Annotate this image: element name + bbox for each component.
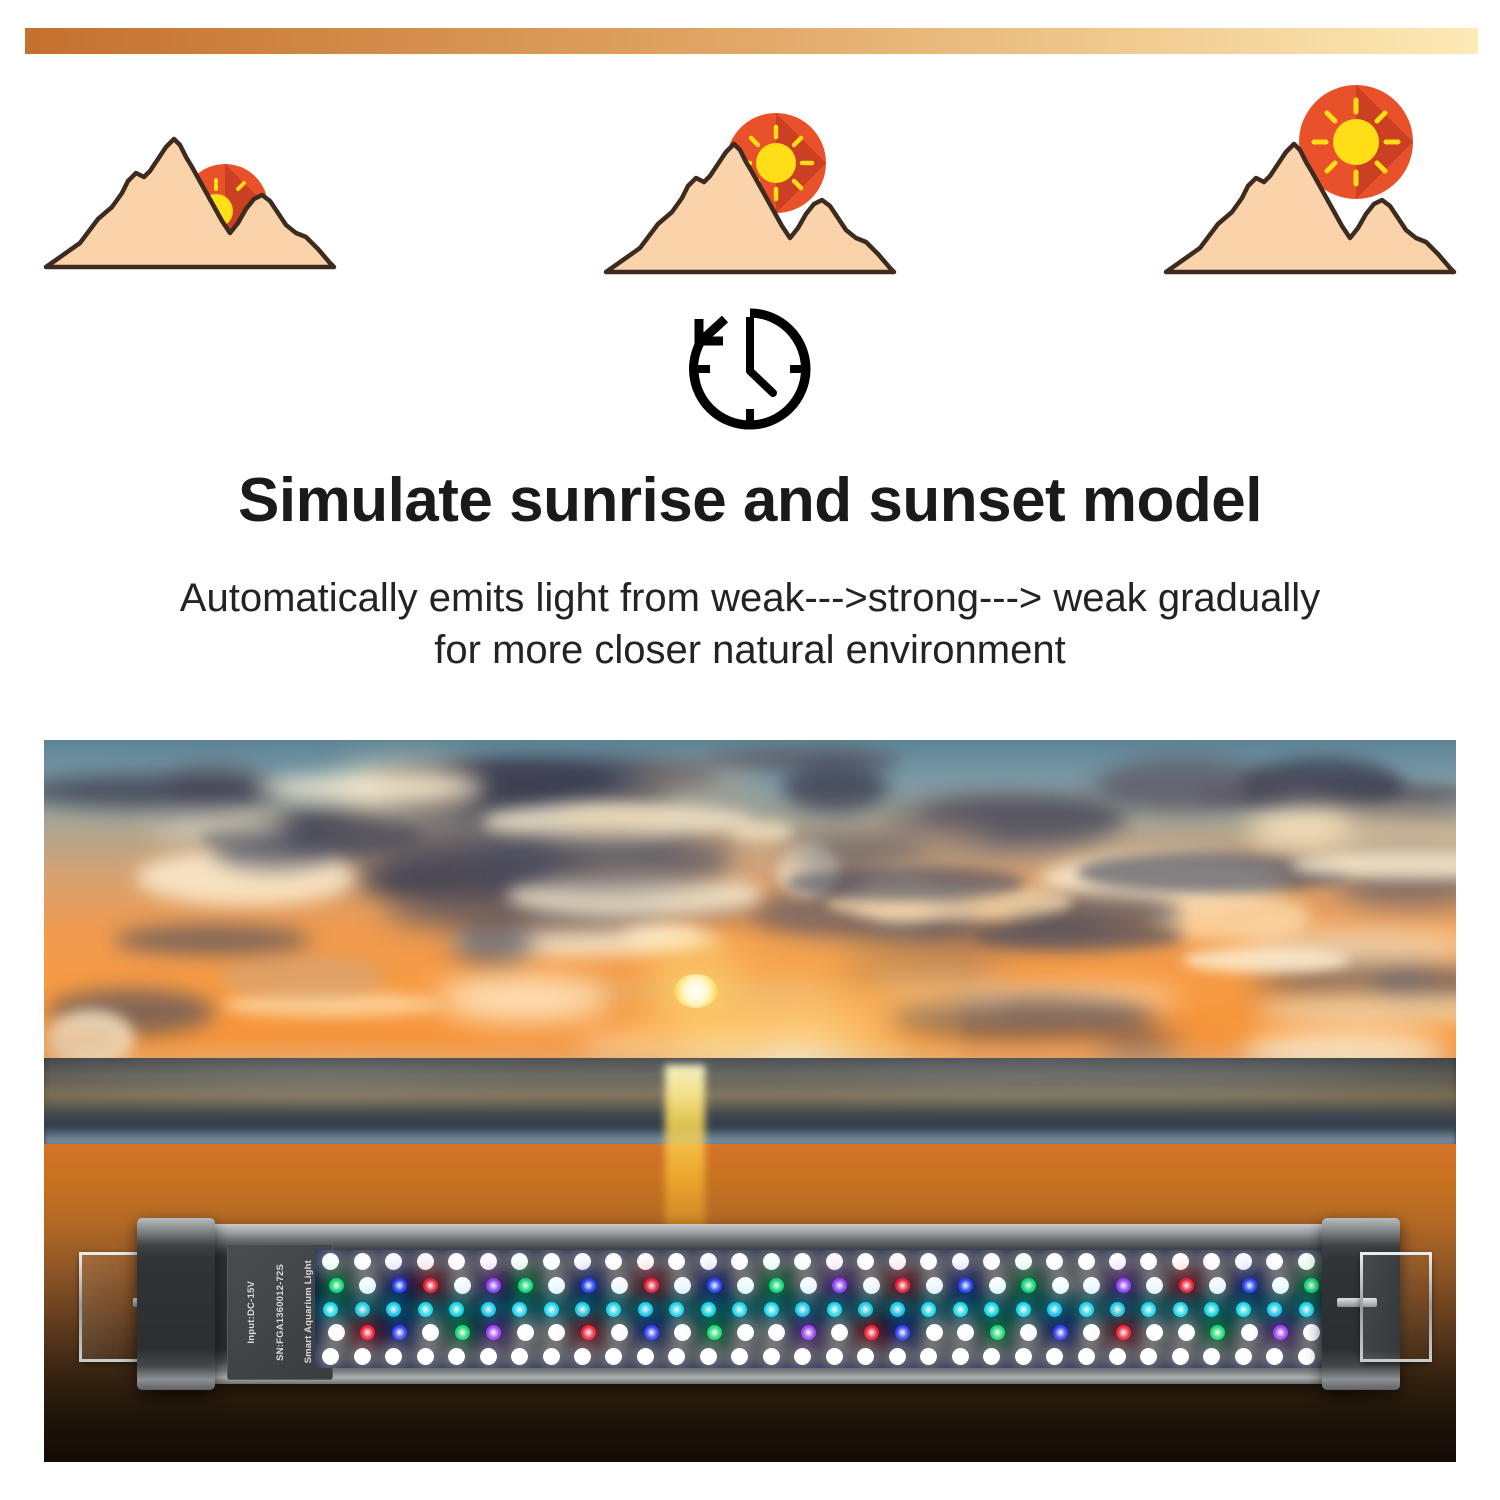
led-dot [1046,1348,1063,1365]
led-dot [644,1278,659,1293]
led-dot [1273,1325,1288,1340]
led-dot [731,1348,748,1365]
led-dot [354,1348,371,1365]
led-dot [543,1348,560,1365]
led-dot [926,1277,943,1294]
led-dot [548,1324,565,1341]
led-dot [354,1253,371,1270]
led-dot [1298,1348,1315,1365]
led-dot [517,1324,534,1341]
led-dot [1203,1253,1220,1270]
led-dot [1267,1302,1282,1317]
led-dot [1079,1302,1094,1317]
led-dot [1304,1278,1319,1293]
led-dot [606,1302,621,1317]
led-dot [801,1325,816,1340]
led-dot [890,1302,905,1317]
led-dot [611,1324,628,1341]
led-dot [674,1324,691,1341]
led-dot [1178,1324,1195,1341]
sunrise-progression-icon-row [0,60,1500,275]
led-dot [1140,1253,1157,1270]
led-dot [455,1325,470,1340]
led-dot [864,1325,879,1340]
led-dot [737,1277,754,1294]
led-dot [895,1278,910,1293]
led-dot [548,1277,565,1294]
led-dot [385,1253,402,1270]
led-dot [668,1253,685,1270]
led-dot [800,1277,817,1294]
sunrise-mountain-svg [40,115,340,275]
led-dot [1047,1302,1062,1317]
led-dot [611,1277,628,1294]
led-dot [958,1278,973,1293]
led-dot [328,1324,345,1341]
led-dot [769,1278,784,1293]
led-dot [889,1253,906,1270]
led-dot [707,1325,722,1340]
led-dot [707,1278,722,1293]
midday-mountain-icon [600,105,900,280]
mounting-bracket-right [1360,1252,1432,1362]
led-dot [1020,1324,1037,1341]
led-dot [581,1278,596,1293]
led-dot [857,1253,874,1270]
led-dot [990,1325,1005,1340]
decorative-gradient-bar [25,28,1478,54]
led-dot [323,1302,338,1317]
led-dot [1021,1278,1036,1293]
led-dot [1052,1277,1069,1294]
led-dot [863,1277,880,1294]
led-dot [1140,1348,1157,1365]
led-dot [732,1302,747,1317]
led-dot [764,1302,779,1317]
led-dot [669,1302,684,1317]
led-dot [605,1253,622,1270]
led-dot [1298,1253,1315,1270]
led-dot [518,1278,533,1293]
led-dot [486,1325,501,1340]
led-dot [511,1348,528,1365]
led-dot [920,1348,937,1365]
led-dot [480,1253,497,1270]
label-line-2: SN:FGA1360012-72S [275,1264,286,1361]
led-dot [831,1324,848,1341]
led-dot [543,1253,560,1270]
led-dot [794,1348,811,1365]
sun-disk [674,974,718,1008]
led-dot [1078,1253,1095,1270]
end-cap-left [137,1218,215,1390]
led-dot [638,1302,653,1317]
led-dot [1146,1277,1163,1294]
led-dot [355,1302,370,1317]
led-dot [1110,1302,1125,1317]
led-dot [359,1277,376,1294]
led-dot [826,1253,843,1270]
led-dot [737,1324,754,1341]
led-dot [984,1302,999,1317]
led-dot [668,1348,685,1365]
led-dot [1109,1253,1126,1270]
led-dot [481,1302,496,1317]
led-dot [1015,1348,1032,1365]
led-dot [983,1348,1000,1365]
midday-mountain-svg [600,105,900,280]
led-dot [957,1324,974,1341]
led-dot [989,1277,1006,1294]
led-dot [449,1302,464,1317]
led-dot [574,1253,591,1270]
led-dot [920,1253,937,1270]
light-bar-body: Smart Aquarium Light SN:FGA1360012-72S I… [155,1224,1355,1384]
timer-clock-icon [670,295,830,445]
led-dot [731,1253,748,1270]
led-dot [1173,1302,1188,1317]
led-dot [1078,1348,1095,1365]
led-panel [315,1250,1385,1368]
led-dot [794,1253,811,1270]
led-dot [1046,1253,1063,1270]
led-dot [322,1348,339,1365]
led-dot [386,1302,401,1317]
noon-mountain-svg [1160,80,1460,280]
aquarium-led-light-bar: Smart Aquarium Light SN:FGA1360012-72S I… [75,1216,1430,1401]
led-dot [1016,1302,1031,1317]
led-dot [392,1325,407,1340]
led-dot [423,1278,438,1293]
led-dot [1303,1324,1320,1341]
led-dot [486,1278,501,1293]
label-line-1: Smart Aquarium Light [303,1260,314,1363]
led-dot [637,1253,654,1270]
led-dot [1116,1325,1131,1340]
led-dot [1242,1278,1257,1293]
led-dot [575,1302,590,1317]
led-dot [1203,1348,1220,1365]
led-dot [417,1348,434,1365]
label-line-3: Input:DC-15V [246,1281,257,1344]
led-dot [1210,1325,1225,1340]
led-dot [417,1253,434,1270]
led-dot [858,1302,873,1317]
led-dot [983,1253,1000,1270]
led-dot [480,1348,497,1365]
timer-clock-icon-wrap [0,295,1500,445]
led-dot [763,1253,780,1270]
led-dot [1083,1324,1100,1341]
led-dot [921,1302,936,1317]
led-dot [768,1324,785,1341]
led-dot [1116,1278,1131,1293]
led-dot [1083,1277,1100,1294]
led-dot [1241,1324,1258,1341]
led-dot [1299,1302,1314,1317]
led-dot [701,1302,716,1317]
mountain-shape [46,139,334,267]
led-dot [1204,1302,1219,1317]
led-dot [329,1278,344,1293]
led-dot [827,1302,842,1317]
led-dot [385,1348,402,1365]
led-dot [605,1348,622,1365]
led-dot [392,1278,407,1293]
led-dot [832,1278,847,1293]
led-dot [857,1348,874,1365]
led-dot [544,1302,559,1317]
led-dot [1179,1278,1194,1293]
led-dot [889,1348,906,1365]
led-dot [1266,1253,1283,1270]
led-dot [1235,1253,1252,1270]
led-dot [360,1325,375,1340]
led-dot [1146,1324,1163,1341]
led-dot [1172,1348,1189,1365]
led-dot [1272,1277,1289,1294]
led-dot [448,1253,465,1270]
led-dot [1235,1348,1252,1365]
led-dot [422,1324,439,1341]
led-dot [953,1302,968,1317]
led-dot [1109,1348,1126,1365]
led-dot [1053,1325,1068,1340]
led-dot [952,1253,969,1270]
led-dot [826,1348,843,1365]
led-dot [1236,1302,1251,1317]
led-dot [952,1348,969,1365]
led-dot [322,1253,339,1270]
subtitle-line-1: Automatically emits light from weak--->s… [0,573,1500,624]
led-dot [700,1253,717,1270]
led-dot [512,1302,527,1317]
led-dot [1266,1348,1283,1365]
led-dot [644,1325,659,1340]
led-dot [1209,1277,1226,1294]
led-dot [926,1324,943,1341]
sunrise-mountain-icon [40,115,340,275]
led-dot [637,1348,654,1365]
led-dot [454,1277,471,1294]
led-dot [763,1348,780,1365]
led-dot [574,1348,591,1365]
subtitle-line-2: for more closer natural environment [0,625,1500,676]
led-dot [418,1302,433,1317]
noon-mountain-icon [1160,80,1460,280]
led-dot [1172,1253,1189,1270]
led-dot [448,1348,465,1365]
page-title: Simulate sunrise and sunset model [0,468,1500,533]
led-dot [581,1325,596,1340]
led-dot [674,1277,691,1294]
led-dot [795,1302,810,1317]
led-dot [700,1348,717,1365]
led-dot [511,1253,528,1270]
led-dot [1015,1253,1032,1270]
led-dot [1141,1302,1156,1317]
led-dot [895,1325,910,1340]
